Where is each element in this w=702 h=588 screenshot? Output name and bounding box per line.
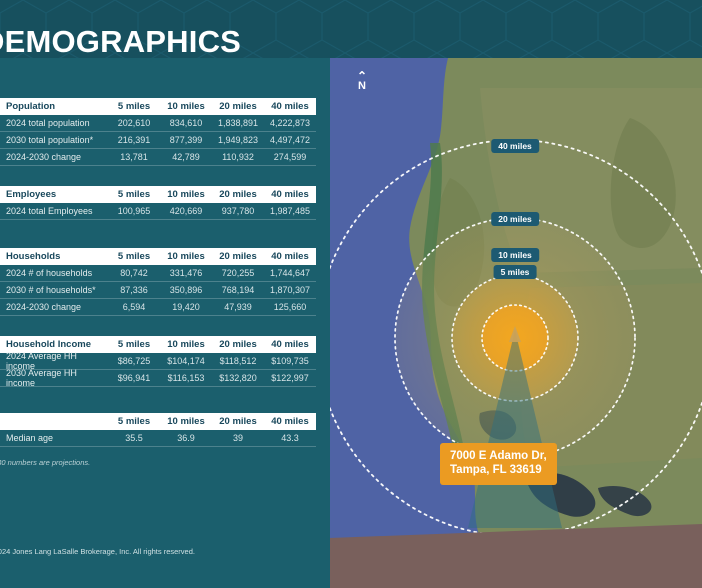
cell-value: 43.3 — [264, 433, 316, 443]
cell-value: 42,789 — [160, 152, 212, 162]
table-row: 2030 # of households* 87,336 350,896 768… — [0, 282, 316, 299]
ring-label-20-miles: 20 miles — [491, 212, 539, 226]
property-address-label: 7000 E Adamo Dr, Tampa, FL 33619 — [440, 443, 557, 485]
column-header: Employees — [0, 189, 108, 200]
cell-value: $109,735 — [264, 356, 316, 366]
cell-value: 720,255 — [212, 268, 264, 278]
page-title: DEMOGRAPHICS — [0, 24, 241, 58]
row-label: 2024-2030 change — [0, 302, 108, 312]
cell-value: $86,725 — [108, 356, 160, 366]
radius-map[interactable]: ⌃ N 40 miles 20 miles 10 miles 5 miles 7… — [330, 58, 702, 588]
column-header: Household Income — [0, 339, 108, 350]
table-header-row: Employees 5 miles 10 miles 20 miles 40 m… — [0, 186, 316, 203]
column-header: 5 miles — [108, 189, 160, 200]
column-header: Population — [0, 101, 108, 112]
cell-value: 125,660 — [264, 302, 316, 312]
table-row: 2024 # of households 80,742 331,476 720,… — [0, 265, 316, 282]
cell-value: 1,987,485 — [264, 206, 316, 216]
table-row: 2030 Average HH income $96,941 $116,153 … — [0, 370, 316, 387]
column-header: 5 miles — [108, 101, 160, 112]
column-header: 40 miles — [264, 101, 316, 112]
cell-value: 834,610 — [160, 118, 212, 128]
cell-value: 202,610 — [108, 118, 160, 128]
table-row: 2024 total Employees 100,965 420,669 937… — [0, 203, 316, 220]
column-header: 20 miles — [212, 416, 264, 427]
table-header-row: Households 5 miles 10 miles 20 miles 40 … — [0, 248, 316, 265]
north-arrow-icon: ⌃ N — [352, 70, 372, 92]
table-row: 2024-2030 change 13,781 42,789 110,932 2… — [0, 149, 316, 166]
row-label: 2030 total population* — [0, 135, 108, 145]
ring-label-5-miles: 5 miles — [494, 265, 537, 279]
column-header: 10 miles — [160, 339, 212, 350]
column-header: 10 miles — [160, 251, 212, 262]
cell-value: 4,222,873 — [264, 118, 316, 128]
table-employees: Employees 5 miles 10 miles 20 miles 40 m… — [0, 186, 316, 220]
column-header: 10 miles — [160, 416, 212, 427]
cell-value: 1,838,891 — [212, 118, 264, 128]
cell-value: 216,391 — [108, 135, 160, 145]
column-header: 20 miles — [212, 251, 264, 262]
ring-label-40-miles: 40 miles — [491, 139, 539, 153]
demographics-tables-panel: Population 5 miles 10 miles 20 miles 40 … — [0, 58, 330, 588]
cell-value: 274,599 — [264, 152, 316, 162]
column-header: 40 miles — [264, 416, 316, 427]
cell-value: 39 — [212, 433, 264, 443]
cell-value: $96,941 — [108, 373, 160, 383]
column-header: 5 miles — [108, 416, 160, 427]
table-row: 2024-2030 change 6,594 19,420 47,939 125… — [0, 299, 316, 316]
column-header: 5 miles — [108, 339, 160, 350]
row-label: 2030 # of households* — [0, 285, 108, 295]
column-header: 10 miles — [160, 101, 212, 112]
projection-footnote: *2030 numbers are projections. — [0, 458, 90, 467]
row-label: 2024 total population — [0, 118, 108, 128]
cell-value: 420,669 — [160, 206, 212, 216]
cell-value: 768,194 — [212, 285, 264, 295]
copyright-notice: © 2024 Jones Lang LaSalle Brokerage, Inc… — [0, 547, 195, 556]
table-row: 2024 total population 202,610 834,610 1,… — [0, 115, 316, 132]
cell-value: 1,870,307 — [264, 285, 316, 295]
cell-value: 110,932 — [212, 152, 264, 162]
cell-value: $116,153 — [160, 373, 212, 383]
cell-value: $122,997 — [264, 373, 316, 383]
row-label: 2024-2030 change — [0, 152, 108, 162]
cell-value: $118,512 — [212, 356, 264, 366]
table-row: 2030 total population* 216,391 877,399 1… — [0, 132, 316, 149]
column-header: 20 miles — [212, 189, 264, 200]
column-header: 20 miles — [212, 339, 264, 350]
row-label: 2030 Average HH income — [0, 368, 108, 388]
table-household-income: Household Income 5 miles 10 miles 20 mil… — [0, 336, 316, 387]
table-population: Population 5 miles 10 miles 20 miles 40 … — [0, 98, 316, 166]
cell-value: 1,744,647 — [264, 268, 316, 278]
table-row: Median age 35.5 36.9 39 43.3 — [0, 430, 316, 447]
satellite-map-image — [330, 58, 702, 588]
cell-value: 331,476 — [160, 268, 212, 278]
table-header-row: Population 5 miles 10 miles 20 miles 40 … — [0, 98, 316, 115]
north-letter: N — [352, 81, 372, 92]
cell-value: $132,820 — [212, 373, 264, 383]
demographics-page: DEMOGRAPHICS Population 5 miles 10 miles… — [0, 0, 702, 588]
cell-value: 1,949,823 — [212, 135, 264, 145]
column-header: 40 miles — [264, 189, 316, 200]
cell-value: 35.5 — [108, 433, 160, 443]
row-label: 2024 total Employees — [0, 206, 108, 216]
cell-value: $104,174 — [160, 356, 212, 366]
cell-value: 350,896 — [160, 285, 212, 295]
cell-value: 937,780 — [212, 206, 264, 216]
cell-value: 13,781 — [108, 152, 160, 162]
cell-value: 47,939 — [212, 302, 264, 312]
column-header: 10 miles — [160, 189, 212, 200]
cell-value: 87,336 — [108, 285, 160, 295]
row-label: Median age — [0, 433, 108, 443]
ring-label-10-miles: 10 miles — [491, 248, 539, 262]
column-header: Households — [0, 251, 108, 262]
column-header: 20 miles — [212, 101, 264, 112]
column-header: 5 miles — [108, 251, 160, 262]
table-median-age: 5 miles 10 miles 20 miles 40 miles Media… — [0, 413, 316, 447]
row-label: 2024 # of households — [0, 268, 108, 278]
cell-value: 100,965 — [108, 206, 160, 216]
cell-value: 36.9 — [160, 433, 212, 443]
table-header-row: 5 miles 10 miles 20 miles 40 miles — [0, 413, 316, 430]
table-households: Households 5 miles 10 miles 20 miles 40 … — [0, 248, 316, 316]
page-header: DEMOGRAPHICS — [0, 0, 702, 58]
cell-value: 4,497,472 — [264, 135, 316, 145]
cell-value: 80,742 — [108, 268, 160, 278]
cell-value: 6,594 — [108, 302, 160, 312]
column-header: 40 miles — [264, 251, 316, 262]
column-header: 40 miles — [264, 339, 316, 350]
cell-value: 877,399 — [160, 135, 212, 145]
cell-value: 19,420 — [160, 302, 212, 312]
